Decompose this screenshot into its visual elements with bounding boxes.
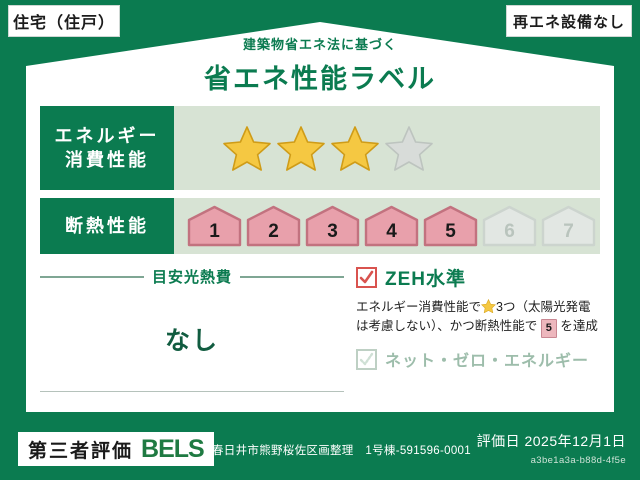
utility-cost-block: 目安光熱費 なし: [40, 266, 344, 392]
house-step-icon: 1: [186, 205, 243, 247]
bels-logo: BELS: [141, 435, 204, 464]
insulation-performance-label-box: 断熱性能: [40, 198, 174, 254]
bels-plate: 第三者評価 BELS: [18, 432, 214, 466]
utility-cost-value: なし: [40, 321, 344, 357]
house-step-number: 6: [481, 205, 538, 247]
house-step-number: 2: [245, 205, 302, 247]
star-icon: [222, 124, 272, 172]
house-step-icon: 5: [422, 205, 479, 247]
energy-star-rating: [174, 106, 600, 190]
zeh-desc-part3: は考慮しない）、かつ断熱性能で: [356, 319, 537, 333]
label-footer: 第三者評価 BELS 春日井市熊野桜佐区画整理 1号棟-591596-0001 …: [0, 418, 640, 480]
dotted-checkbox-icon: [356, 349, 377, 370]
utility-cost-heading-text: 目安光熱費: [152, 266, 232, 287]
zeh-description: エネルギー消費性能で3つ（太陽光発電は考慮しない）、かつ断熱性能で 5 を達成: [356, 298, 604, 338]
house-step-icon: 3: [304, 205, 361, 247]
zeh-block: ZEH水準 エネルギー消費性能で3つ（太陽光発電は考慮しない）、かつ断熱性能で …: [356, 264, 604, 371]
house-step-icon: 2: [245, 205, 302, 247]
energy-performance-label-box: エネルギー 消費性能: [40, 106, 174, 190]
house-step-icon: 6: [481, 205, 538, 247]
star-icon: [384, 124, 434, 172]
heading-rule-left: [40, 276, 144, 278]
property-address: 春日井市熊野桜佐区画整理 1号棟-591596-0001: [212, 442, 471, 458]
insulation-performance-row: 断熱性能 1234567: [40, 198, 600, 254]
star-icon: [481, 299, 496, 313]
label-main-title: 省エネ性能ラベル: [26, 57, 614, 96]
insulation-grade-badge: 5: [541, 319, 557, 338]
evaluation-date: 評価日 2025年12月1日: [477, 431, 626, 451]
energy-label-line1: エネルギー: [55, 124, 160, 148]
energy-performance-label: 住宅（住戸） 再エネ設備なし 建築物省エネ法に基づく 省エネ性能ラベル エネルギ…: [0, 0, 640, 480]
utility-cost-heading: 目安光熱費: [40, 266, 344, 287]
house-step-number: 3: [304, 205, 361, 247]
record-id: a3be1a3a-b88d-4f5e: [477, 455, 626, 466]
insulation-step-scale: 1234567: [174, 198, 600, 254]
zeh-desc-part2: 3つ（太陽光発電: [496, 300, 590, 314]
house-step-icon: 7: [540, 205, 597, 247]
house-step-number: 7: [540, 205, 597, 247]
house-step-number: 4: [363, 205, 420, 247]
house-panel: 建築物省エネ法に基づく 省エネ性能ラベル エネルギー 消費性能 断熱性能 123…: [26, 22, 614, 412]
utility-cost-divider: [40, 391, 344, 392]
zeh-desc-part4: を達成: [560, 319, 598, 333]
house-step-number: 1: [186, 205, 243, 247]
star-icon: [330, 124, 380, 172]
house-step-number: 5: [422, 205, 479, 247]
third-party-eval-text: 第三者評価: [28, 436, 133, 463]
zeh-desc-part1: エネルギー消費性能で: [356, 300, 481, 314]
insulation-label: 断熱性能: [65, 214, 149, 238]
house-step-icon: 4: [363, 205, 420, 247]
zeh-title: ZEH水準: [385, 264, 466, 291]
net-zero-energy-label: ネット・ゼロ・エネルギー: [385, 347, 589, 371]
footer-meta: 評価日 2025年12月1日 a3be1a3a-b88d-4f5e: [477, 431, 626, 466]
zeh-heading: ZEH水準: [356, 264, 604, 291]
heading-rule-right: [240, 276, 344, 278]
label-title-block: 建築物省エネ法に基づく 省エネ性能ラベル: [26, 34, 614, 96]
label-subtitle: 建築物省エネ法に基づく: [26, 34, 614, 53]
energy-label-line2: 消費性能: [65, 148, 149, 172]
net-zero-energy-row: ネット・ゼロ・エネルギー: [356, 347, 604, 371]
star-icon: [276, 124, 326, 172]
checkmark-icon: [356, 267, 377, 288]
energy-performance-row: エネルギー 消費性能: [40, 106, 600, 190]
